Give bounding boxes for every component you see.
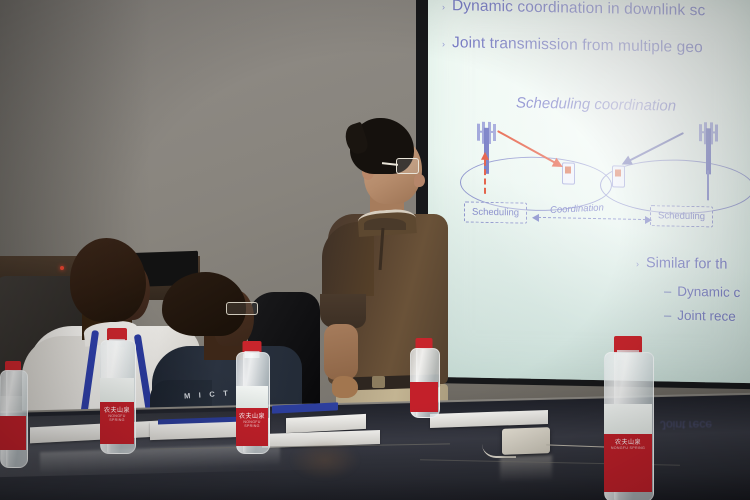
bottle-brand-cn: 农夫山泉 xyxy=(604,437,652,446)
cell-tower-icon-left xyxy=(474,122,500,175)
bottle-label-red: 农夫山泉 NONGFU SPRING xyxy=(100,402,134,444)
scheduling-box-right: Scheduling xyxy=(650,205,713,227)
slide-lower-sub-1-text: Dynamic c xyxy=(677,284,740,300)
bullet-marker-icon: › xyxy=(442,40,445,49)
bottle-label-top xyxy=(100,378,134,402)
slide-lower-main-text: Similar for th xyxy=(646,255,727,273)
uplink-dashed-line xyxy=(484,160,486,194)
bottle-brand-cn: 农夫山泉 xyxy=(236,411,268,420)
slide-lower-sub-2: – Joint rece xyxy=(664,307,736,323)
slide-lower-main-bullet: › Similar for th xyxy=(636,255,727,273)
device-reflection xyxy=(500,455,552,483)
presenter-nose xyxy=(414,174,425,187)
slide-text-reflection: Joint rece xyxy=(660,418,712,432)
dash-marker-icon: – xyxy=(664,283,671,298)
conference-room-photo: › Dynamic coordination in downlink sc › … xyxy=(0,0,750,500)
slide-bullet-2: › Joint transmission from multiple geo xyxy=(442,34,703,57)
glasses-icon xyxy=(226,302,258,315)
presenter-sleeve xyxy=(320,294,366,328)
diagram-title: Scheduling coordination xyxy=(516,94,676,114)
slide-lower-sub-1: – Dynamic c xyxy=(664,283,740,300)
slide-lower-sub-2-text: Joint rece xyxy=(677,308,736,324)
glasses-icon xyxy=(388,158,424,173)
belt-buckle xyxy=(372,376,385,388)
bottle-brand-sub: NONGFU SPRING xyxy=(604,446,652,450)
presentation-slide: › Dynamic coordination in downlink sc › … xyxy=(428,0,750,383)
presenter-arm xyxy=(324,324,358,380)
slide-bullet-1: › Dynamic coordination in downlink sc xyxy=(442,0,705,20)
microphone-base xyxy=(502,427,550,455)
bottle-label-top xyxy=(604,404,652,434)
bottle-brand-sub: NONGFU SPRING xyxy=(100,414,134,422)
coordination-label: Coordination xyxy=(550,202,605,216)
network-diagram: Scheduling Scheduling Coordination xyxy=(428,113,750,230)
bullet-marker-icon: › xyxy=(636,260,639,269)
presenter-hand xyxy=(332,376,358,398)
bottle-brand-cn: 农夫山泉 xyxy=(100,405,134,414)
bottle-brand-sub: NONGFU SPRING xyxy=(236,420,268,428)
water-bottle-foreground: 农夫山泉 NONGFU SPRING xyxy=(604,352,652,500)
water-bottle-center: 农夫山泉 NONGFU SPRING xyxy=(236,352,268,452)
dash-marker-icon: – xyxy=(664,307,671,322)
bottle-label-top xyxy=(236,386,268,408)
water-bottle-edge xyxy=(0,370,26,466)
link-line-right xyxy=(707,170,709,200)
cell-tower-icon-right xyxy=(696,122,722,175)
scheduling-box-left: Scheduling xyxy=(464,201,527,223)
coordination-connector xyxy=(538,217,646,220)
slide-bullet-2-text: Joint transmission from multiple geo xyxy=(452,34,703,57)
attendee-white-head xyxy=(70,238,146,322)
bottle-label-red: 农夫山泉 NONGFU SPRING xyxy=(604,434,652,492)
bottle-label-red: 农夫山泉 NONGFU SPRING xyxy=(236,408,268,446)
bottle-label xyxy=(410,382,438,412)
bullet-marker-icon: › xyxy=(442,3,445,12)
presenter-collar-inner xyxy=(364,218,406,230)
water-bottle-left: 农夫山泉 NONGFU SPRING xyxy=(100,340,134,452)
slide-bullet-1-text: Dynamic coordination in downlink sc xyxy=(452,0,705,20)
bottle-label xyxy=(0,416,26,450)
water-bottle-far xyxy=(410,348,438,416)
mobile-handset-icon-left xyxy=(562,162,575,184)
